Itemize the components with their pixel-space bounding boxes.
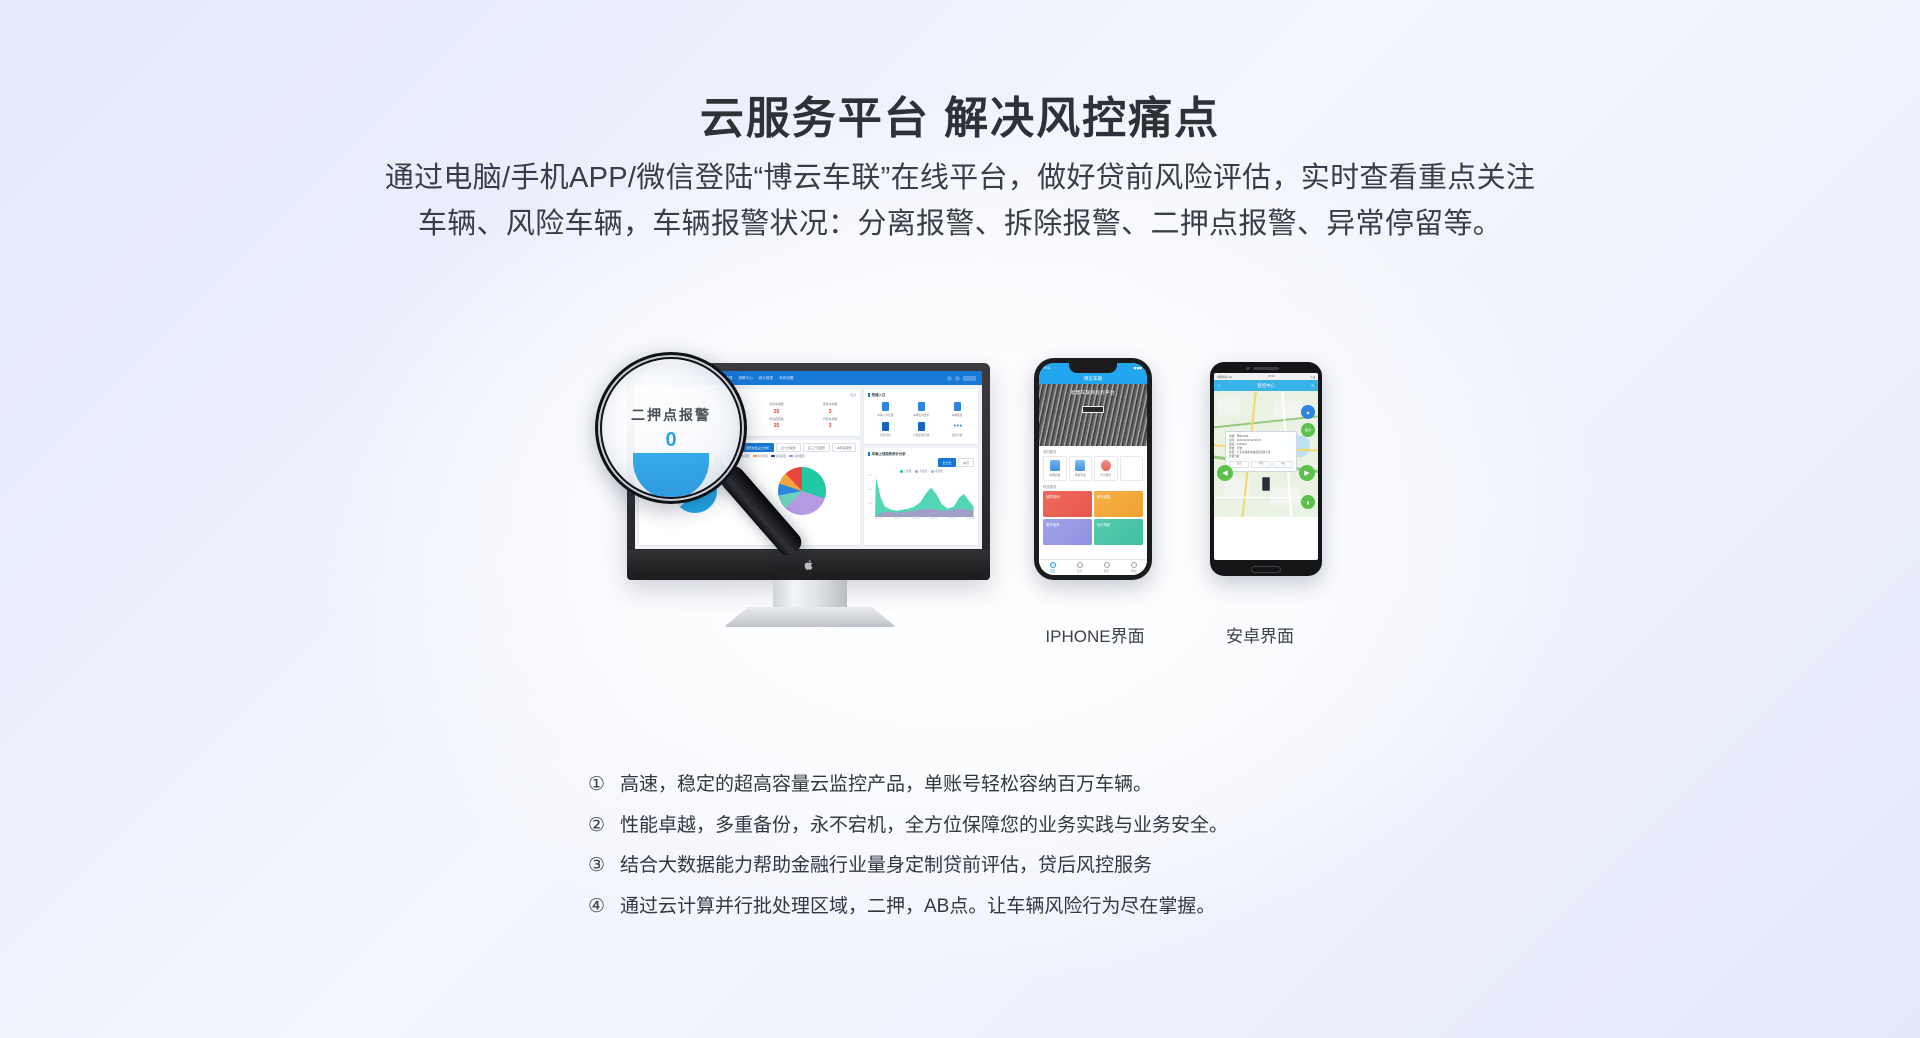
quick-item[interactable]: 行驶轨迹回放 <box>904 422 938 437</box>
iphone-feature-grid: 违章查询 停车缴费 爱车保养 出行导航 <box>1039 491 1147 545</box>
service-label: 车辆加油 <box>1049 473 1060 477</box>
subtitle-line-2: 车辆、风险车辆，车辆报警状况：分离报警、拆除报警、二押点报警、异常停留等。 <box>365 201 1555 247</box>
quick-card-header: 快捷入口 <box>868 392 974 397</box>
stat-value: 3 <box>804 423 857 429</box>
location-icon <box>1077 562 1083 568</box>
android-caption: 安卓界面 <box>1180 622 1340 647</box>
dashboard-right-column: 快捷入口 车辆入库管理 车辆实时监控 车辆报警 风控评估 行驶轨迹回放 •••更… <box>864 389 978 545</box>
service-label: 年审查询 <box>1075 473 1086 477</box>
stat-label: 拆除报警数 <box>750 417 803 421</box>
status-icons: ⟳ ▮ <box>1311 375 1315 379</box>
tab-profile[interactable]: 我的 <box>1120 562 1147 573</box>
monitor-icon <box>918 402 925 411</box>
y-tick: 400 <box>868 489 875 491</box>
trend-button-week[interactable]: 近七天 <box>938 458 957 467</box>
list-item-number: ④ <box>588 895 608 918</box>
device-showcase: ◆ 博云车联 首页 监控中心 车辆管理 报警中心 统计报表 系统设置 <box>0 340 1920 640</box>
vehicle-marker-icon[interactable] <box>1262 477 1270 491</box>
service-tile[interactable]: 代驾服务 <box>1094 456 1118 481</box>
iphone-hero-image: 智慧车联网监控平台 <box>1039 384 1147 446</box>
popup-buttons: 轨迹 详情 导航 <box>1229 461 1293 469</box>
list-item-number: ③ <box>588 854 608 877</box>
iphone-featured-section: 精选服务 <box>1039 481 1147 489</box>
quick-item[interactable]: 风控评估 <box>868 422 902 437</box>
car-in-icon <box>882 402 889 411</box>
search-icon[interactable]: ⌕ <box>1311 383 1314 389</box>
service-icon <box>1104 562 1110 568</box>
trend-card-title: 车辆上线趋势统计分析 <box>872 451 906 456</box>
feature-label: 停车缴费 <box>1097 495 1111 499</box>
bell-icon[interactable] <box>947 376 952 381</box>
pie-chart <box>778 467 826 515</box>
iphone-services-section: 我的服务 车辆加油 年审查询 <box>1039 446 1147 481</box>
list-item: ① 高速，稳定的超高容量云监控产品，单账号轻松容纳百万车辆。 <box>588 772 1348 798</box>
user-icon[interactable] <box>955 376 960 381</box>
feature-list: ① 高速，稳定的超高容量云监控产品，单账号轻松容纳百万车辆。 ② 性能卓越，多重… <box>588 772 1348 935</box>
tab-label: 首页 <box>1050 569 1056 573</box>
service-tile-empty[interactable] <box>1120 456 1144 481</box>
legend-item: 异常停留 <box>753 454 768 458</box>
quick-item-label: 车辆入库管理 <box>877 414 893 417</box>
next-arrow-icon[interactable]: ▶ <box>1299 465 1315 481</box>
stat-item: 风险车辆数 3 <box>804 417 857 430</box>
android-status-bar: 中国移动 4G 15:34 ⟳ ▮ <box>1214 373 1318 380</box>
area-series <box>875 475 974 517</box>
quick-item-label: 行驶轨迹回放 <box>913 434 929 437</box>
stat-label: 风险车辆数 <box>804 417 857 421</box>
trend-buttons: 近七天 本月 <box>868 458 974 467</box>
driver-icon <box>1101 460 1111 471</box>
fuel-icon <box>1050 460 1060 471</box>
service-tile[interactable]: 年审查询 <box>1069 456 1093 481</box>
legend-item: 上线数 <box>900 469 912 473</box>
stat-value: 3 <box>804 409 857 415</box>
quick-grid: 车辆入库管理 车辆实时监控 车辆报警 风控评估 行驶轨迹回放 •••更多功能 <box>868 399 974 441</box>
magnifier-label: 二押点报警 <box>631 405 711 425</box>
android-device: 中国移动 4G 15:34 ⟳ ▮ ‹ 监控中心 ⌕ <box>1210 362 1322 576</box>
trend-button-month[interactable]: 本月 <box>958 458 974 467</box>
shield-check-icon <box>882 422 889 431</box>
popup-line: 天健大厦 <box>1229 455 1293 459</box>
x-tick: 2019-05 <box>948 518 956 520</box>
stat-label: 报警车辆数 <box>804 402 857 406</box>
pie-tab-1[interactable]: 近七天报警 <box>776 443 800 452</box>
license-plate-icon <box>1082 406 1104 413</box>
monitor-base <box>724 607 896 627</box>
home-icon <box>1050 562 1056 568</box>
stat-item: 拆除报警数 25 <box>750 417 803 430</box>
x-axis: 2019-01 2019-02 2019-03 2019-04 2019-05 … <box>875 517 974 520</box>
tab-label: 监控 <box>1077 569 1083 573</box>
legend-item: 其他报警 <box>789 454 804 458</box>
quick-item[interactable]: 车辆实时监控 <box>904 402 938 417</box>
account-chip[interactable] <box>963 376 976 381</box>
iphone-screen: 9:41 ◼◼◼ 博云车联 智慧车联网监控平台 我的服务 车辆加油 <box>1039 363 1147 575</box>
list-item-text: 结合大数据能力帮助金融行业量身定制贷前评估，贷后风控服务 <box>620 853 1152 879</box>
home-button[interactable] <box>1251 566 1281 573</box>
magnifier-overlay: 二押点报警 0 <box>595 352 747 504</box>
x-tick: 2019-04 <box>930 518 938 520</box>
pie-tab-2[interactable]: 近三十天报警 <box>803 443 830 452</box>
menu-item-settings[interactable]: 系统设置 <box>779 376 793 381</box>
y-axis: 600 400 200 0 <box>868 475 875 519</box>
y-tick: 0 <box>868 517 875 519</box>
feature-card[interactable]: 爱车保养 <box>1043 519 1092 545</box>
lock-icon[interactable]: ▮ <box>1301 495 1315 509</box>
traffic-icon[interactable]: 路况 <box>1301 423 1315 437</box>
apple-logo-icon <box>804 559 814 571</box>
list-item-text: 通过云计算并行批处理区域，二押，AB点。让车辆风险行为尽在掌握。 <box>620 894 1215 920</box>
quick-item-label: 车辆实时监控 <box>913 414 929 417</box>
tab-label: 服务 <box>1104 569 1110 573</box>
android-map[interactable]: 车牌：粤B12345 时间：2019-03-04 11:50:48 速度：0.0… <box>1214 391 1318 517</box>
service-tile[interactable]: 车辆加油 <box>1043 456 1067 481</box>
android-app-bar: ‹ 监控中心 ⌕ <box>1214 380 1318 391</box>
list-item: ③ 结合大数据能力帮助金融行业量身定制贷前评估，贷后风控服务 <box>588 853 1348 879</box>
subtitle-line-1: 通过电脑/手机APP/微信登陆“博云车联”在线平台，做好贷前风险评估，实时查看重… <box>365 155 1555 201</box>
page-root: 云服务平台 解决风控痛点 通过电脑/手机APP/微信登陆“博云车联”在线平台，做… <box>0 0 1920 1038</box>
stat-value: 25 <box>750 409 803 415</box>
feature-card[interactable]: 违章查询 <box>1043 491 1092 517</box>
iphone-app-title: 博云车联 <box>1039 373 1147 384</box>
navbar-actions <box>947 376 976 381</box>
popup-button-navigate[interactable]: 导航 <box>1273 461 1293 469</box>
hero-banner-text: 智慧车联网监控平台 <box>1071 390 1115 396</box>
tab-monitor[interactable]: 监控 <box>1066 562 1093 573</box>
feature-label: 出行导航 <box>1097 523 1111 527</box>
quick-item-label: 车辆报警 <box>952 414 963 417</box>
legend-item: 超速报警 <box>771 454 786 458</box>
quick-entry-card: 快捷入口 车辆入库管理 车辆实时监控 车辆报警 风控评估 行驶轨迹回放 •••更… <box>864 389 978 444</box>
magnifier-glass: 二押点报警 0 <box>595 352 747 504</box>
popup-button-detail[interactable]: 详情 <box>1251 461 1271 469</box>
tab-home[interactable]: 首页 <box>1039 562 1066 573</box>
quick-item-label: 更多功能 <box>952 434 963 437</box>
page-subtitle: 通过电脑/手机APP/微信登陆“博云车联”在线平台，做好贷前风险评估，实时查看重… <box>365 155 1555 247</box>
monitor-chin <box>627 550 990 580</box>
quick-card-title: 快捷入口 <box>872 392 886 397</box>
vehicle-info-popup: 车牌：粤B12345 时间：2019-03-04 11:50:48 速度：0.0… <box>1225 431 1297 472</box>
quick-item-label: 风控评估 <box>880 434 891 437</box>
status-icons: ◼◼◼ <box>1134 366 1142 370</box>
quick-item[interactable]: 车辆入库管理 <box>868 402 902 417</box>
profile-icon <box>1131 562 1137 568</box>
monitor-neck <box>773 580 847 610</box>
legend-item: 报警数 <box>931 469 943 473</box>
inspection-icon <box>1075 460 1085 471</box>
magnifier-value: 0 <box>665 429 676 452</box>
x-tick: 2019-06 <box>966 518 974 520</box>
quick-item[interactable]: 车辆报警 <box>940 402 974 417</box>
feature-label: 违章查询 <box>1046 495 1060 499</box>
android-title-label: 监控中心 <box>1257 383 1275 389</box>
services-row: 车辆加油 年审查询 代驾服务 <box>1043 456 1143 481</box>
popup-button-track[interactable]: 轨迹 <box>1229 461 1249 469</box>
list-item-number: ② <box>588 814 608 837</box>
list-item-text: 性能卓越，多重备份，永不宕机，全方位保障您的业务实践与业务安全。 <box>620 813 1228 839</box>
list-item: ④ 通过云计算并行批处理区域，二押，AB点。让车辆风险行为尽在掌握。 <box>588 894 1348 920</box>
status-clock: 15:34 <box>1268 375 1275 378</box>
stat-value: 25 <box>750 423 803 429</box>
status-time: 9:41 <box>1044 366 1051 370</box>
featured-section-title: 精选服务 <box>1043 484 1143 489</box>
y-tick: 200 <box>868 503 875 505</box>
list-item-number: ① <box>588 773 608 796</box>
menu-item-reports[interactable]: 统计报表 <box>759 376 773 381</box>
feature-label: 爱车保养 <box>1046 523 1060 527</box>
alarm-icon <box>954 402 961 411</box>
layers-icon[interactable]: ◉ <box>1301 405 1315 419</box>
legend-item: 离线数 <box>915 469 927 473</box>
accent-bar <box>868 452 869 456</box>
android-frame: 中国移动 4G 15:34 ⟳ ▮ ‹ 监控中心 ⌕ <box>1210 362 1322 576</box>
feature-card[interactable]: 停车缴费 <box>1094 491 1143 517</box>
x-tick: 2019-02 <box>894 518 902 520</box>
trend-card: 车辆上线趋势统计分析 近七天 本月 上线数 离线数 <box>864 448 978 545</box>
route-icon <box>918 422 925 431</box>
android-screen: 中国移动 4G 15:34 ⟳ ▮ ‹ 监控中心 ⌕ <box>1214 373 1318 560</box>
service-label: 代驾服务 <box>1100 473 1111 477</box>
list-item: ② 性能卓越，多重备份，永不宕机，全方位保障您的业务实践与业务安全。 <box>588 813 1348 839</box>
iphone-notch <box>1069 363 1117 373</box>
list-item-text: 高速，稳定的超高容量云监控产品，单账号轻松容纳百万车辆。 <box>620 772 1152 798</box>
feature-card[interactable]: 出行导航 <box>1094 519 1143 545</box>
x-tick: 2019-03 <box>912 518 920 520</box>
tab-service[interactable]: 服务 <box>1093 562 1120 573</box>
more-dots-icon: ••• <box>954 422 961 431</box>
iphone-tab-bar: 首页 监控 服务 我的 <box>1039 559 1147 575</box>
trend-card-header: 车辆上线趋势统计分析 <box>868 451 974 456</box>
pie-tab-3[interactable]: 本年度报警 <box>832 443 856 452</box>
stat-item: 离线车辆数 25 <box>750 402 803 415</box>
accent-bar <box>868 393 869 397</box>
iphone-device: 9:41 ◼◼◼ 博云车联 智慧车联网监控平台 我的服务 车辆加油 <box>1034 358 1152 580</box>
stat-item: 报警车辆数 3 <box>804 402 857 415</box>
y-tick: 600 <box>868 475 875 477</box>
magnifier-chart-arc <box>633 453 709 499</box>
area-chart: 600 400 200 0 <box>868 475 974 527</box>
page-title: 云服务平台 解决风控痛点 <box>0 82 1920 146</box>
trend-legend: 上线数 离线数 报警数 <box>868 469 974 473</box>
quick-item[interactable]: •••更多功能 <box>940 422 974 437</box>
stat-label: 离线车辆数 <box>750 402 803 406</box>
iphone-frame: 9:41 ◼◼◼ 博云车联 智慧车联网监控平台 我的服务 车辆加油 <box>1034 358 1152 580</box>
prev-arrow-icon[interactable]: ◀ <box>1217 465 1233 481</box>
carrier-label: 中国移动 4G <box>1217 375 1232 379</box>
tab-label: 我的 <box>1131 569 1137 573</box>
iphone-caption: IPHONE界面 <box>1015 622 1175 647</box>
x-tick: 2019-01 <box>875 518 883 520</box>
stats-more-link[interactable]: 更多 <box>850 393 856 397</box>
services-section-title: 我的服务 <box>1043 449 1143 454</box>
chevron-left-icon[interactable]: ‹ <box>1218 383 1220 389</box>
earpiece-speaker <box>1253 367 1279 370</box>
